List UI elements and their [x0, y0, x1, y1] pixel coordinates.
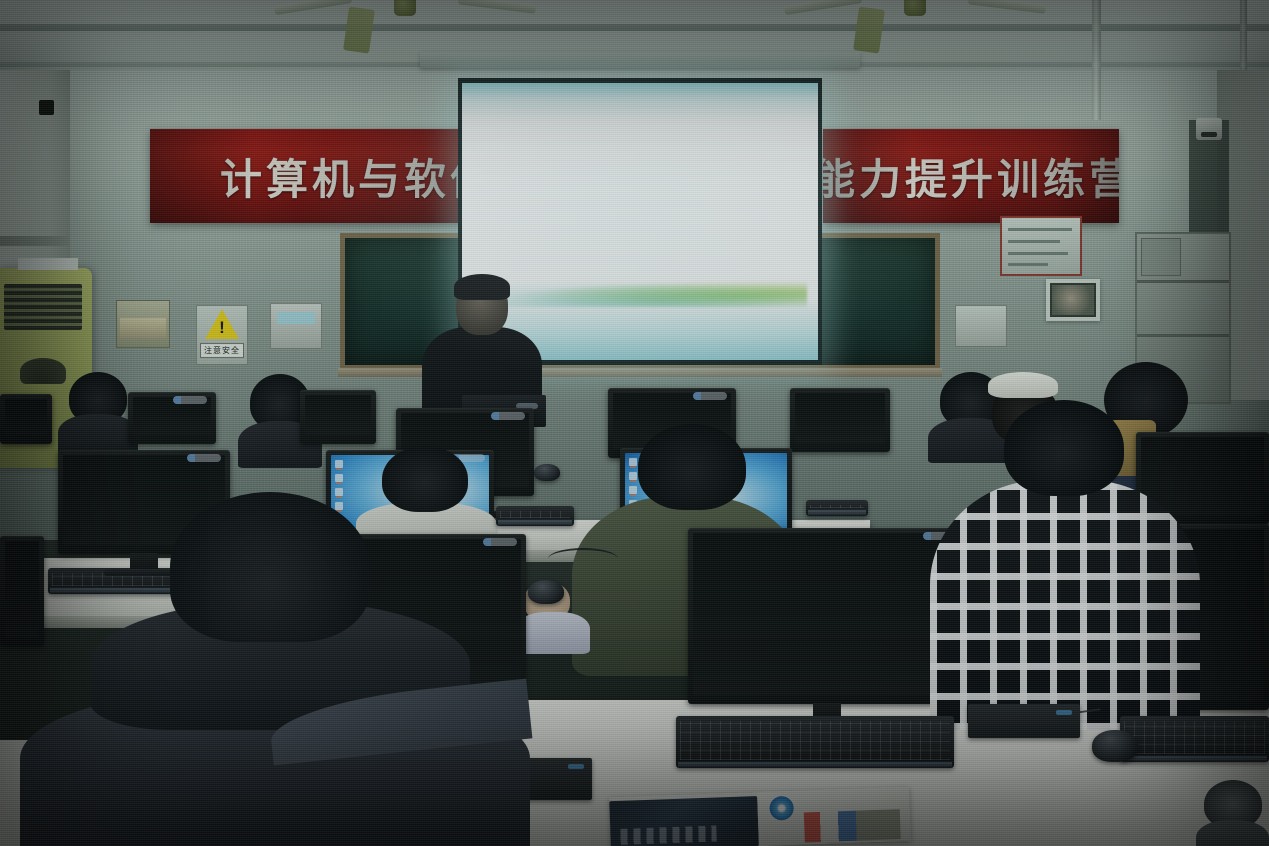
fan-hub: [394, 0, 416, 16]
power-led: [568, 764, 584, 769]
ac-grille: [4, 284, 82, 330]
student-back-left: [58, 372, 138, 442]
framed-notice: [1046, 279, 1100, 321]
pillar-cap: [0, 236, 70, 246]
instructor: [418, 277, 546, 427]
monitor-back: [128, 392, 216, 444]
wall-conduit: [1092, 0, 1101, 120]
monitor-back: [300, 390, 376, 444]
monitor-logo-badge: [187, 454, 221, 462]
booklet-left-page: [609, 796, 759, 846]
student-body: [1196, 820, 1269, 846]
banner-left-segment: 计算机与软件: [150, 129, 496, 223]
classroom-photo: 计算机与软件 能力提升训练营 注意安全: [0, 0, 1269, 846]
ceiling-beam: [0, 24, 1269, 31]
monitor-front-large: [688, 528, 966, 704]
desktop-icon[interactable]: [335, 474, 343, 482]
wall-sensor-icon: [1196, 118, 1222, 140]
banner-text-left: 计算机与软件: [220, 146, 496, 207]
monitor-body: [300, 390, 376, 444]
mouse[interactable]: [534, 464, 560, 481]
cabinet-door: [1141, 238, 1181, 276]
mouse[interactable]: [528, 580, 564, 604]
student-foreground: [20, 492, 530, 846]
monitor-logo-badge: [173, 396, 207, 404]
desktop-icon[interactable]: [335, 460, 343, 468]
student-head: [1004, 400, 1124, 496]
monitor-logo-badge: [693, 392, 727, 400]
ac-top-cap: [18, 258, 78, 270]
student-body: [930, 480, 1200, 730]
electrical-box-label: [120, 318, 166, 338]
student-head: [638, 424, 746, 510]
student-checkered-jacket: [930, 400, 1200, 730]
cable: [548, 548, 618, 570]
student-foreground-right: [1196, 780, 1269, 846]
notice-line: [1008, 252, 1068, 255]
open-booklet[interactable]: [609, 787, 911, 846]
notice-line: [1008, 240, 1060, 243]
keyboard[interactable]: [1120, 716, 1269, 762]
monitor-body: [0, 394, 52, 444]
cabinet-shelf: [1137, 334, 1229, 337]
booklet-photo-collage: [804, 809, 901, 842]
ceiling-fan-icon: [840, 0, 990, 28]
safety-warning-sign: 注意安全: [196, 305, 248, 365]
banner-text-right: 能力提升训练营: [823, 146, 1119, 207]
monitor-rear: [305, 395, 371, 435]
frame-inner: [1052, 285, 1094, 315]
monitor-rear: [795, 393, 885, 443]
desktop-tower[interactable]: [968, 704, 1080, 738]
booklet-right-page: [757, 787, 911, 846]
mouse[interactable]: [1092, 730, 1138, 762]
white-cap: [988, 372, 1058, 398]
monitor-back: [0, 394, 52, 444]
wall-panel: [270, 303, 322, 349]
monitor-rear: [693, 533, 961, 695]
fan-hub: [904, 0, 926, 16]
notice-board: [1000, 216, 1082, 276]
monitor-logo-badge: [491, 412, 525, 420]
monitor-body: [688, 528, 966, 704]
monitor-body: [790, 388, 890, 452]
keyboard[interactable]: [806, 500, 868, 516]
notice-line: [1008, 263, 1048, 266]
screen-soffit: [420, 52, 860, 68]
monitor-back: [790, 388, 890, 452]
notice-line: [1008, 228, 1072, 231]
warning-sign-label: 注意安全: [200, 343, 244, 358]
monitor-rear: [5, 399, 47, 435]
monitor-body: [128, 392, 216, 444]
ac-display: [39, 100, 54, 115]
instructor-hair: [454, 274, 510, 300]
banner-right-segment: 能力提升训练营: [823, 129, 1119, 223]
keyboard[interactable]: [676, 716, 954, 768]
warning-triangle-icon: [205, 309, 239, 339]
ceiling-fan-icon: [330, 0, 480, 28]
wall-plate: [955, 305, 1007, 347]
power-led: [1056, 710, 1072, 715]
cabinet-shelf: [1137, 280, 1229, 283]
panel-tag: [277, 312, 315, 324]
student-hair: [170, 492, 370, 642]
cd-graphic-icon: [769, 796, 794, 821]
